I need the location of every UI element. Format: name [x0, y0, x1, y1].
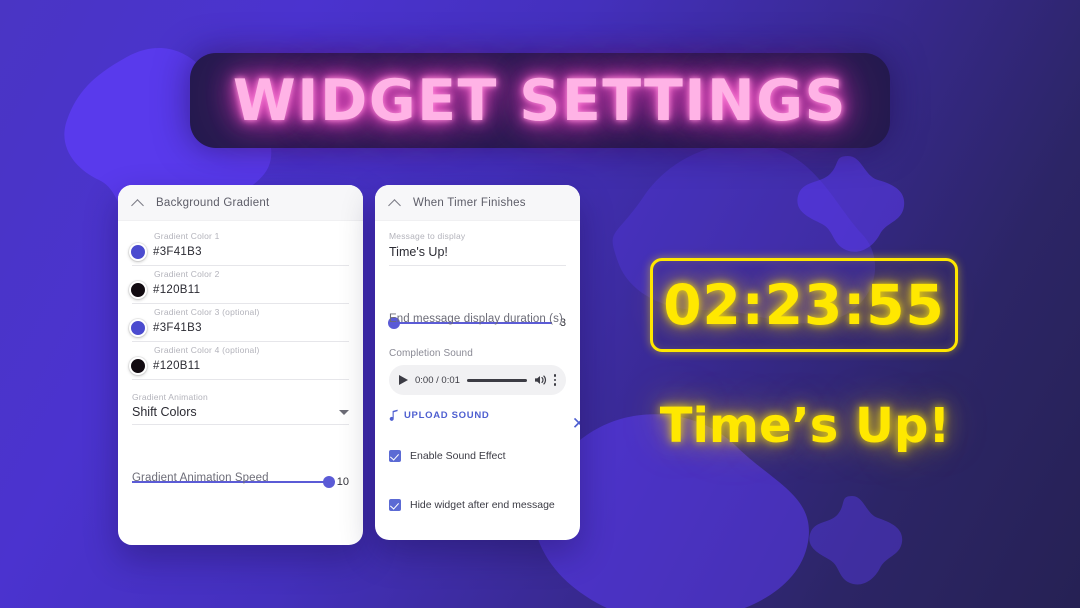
gradient-color-1-field: Gradient Color 1 #3F41B3 [132, 231, 349, 266]
chevron-up-icon[interactable] [389, 197, 401, 209]
gradient-animation-speed-field: Gradient Animation Speed 10 [132, 475, 349, 489]
background-blob-star-top-right [790, 150, 910, 260]
gradient-color-1-label: Gradient Color 1 [154, 231, 349, 241]
gradient-color-4-value[interactable]: #120B11 [153, 360, 200, 372]
gradient-animation-speed-slider[interactable]: Gradient Animation Speed [132, 475, 329, 489]
background-blob-star-bottom-right [800, 490, 910, 595]
audio-player[interactable]: 0:00 / 0:01 [389, 365, 566, 395]
play-icon[interactable] [399, 375, 408, 385]
gradient-color-3-label: Gradient Color 3 (optional) [154, 307, 349, 317]
message-to-display-label: Message to display [389, 231, 566, 241]
end-message-preview: Time’s Up! [655, 398, 955, 454]
gradient-color-4-swatch[interactable] [129, 357, 147, 375]
screen-root: WIDGET SETTINGS Background Gradient Grad… [0, 0, 1080, 608]
enable-sound-effect-label: Enable Sound Effect [410, 450, 506, 462]
chevron-up-icon[interactable] [132, 197, 144, 209]
timer-preview-value: 02:23:55 [663, 273, 945, 337]
slider-track [389, 322, 552, 324]
page-title-banner: WIDGET SETTINGS [190, 53, 890, 148]
message-to-display-field: Message to display Time's Up! [389, 231, 566, 266]
message-to-display-input[interactable]: Time's Up! [389, 241, 566, 266]
gradient-animation-select-field: Gradient Animation Shift Colors [132, 392, 349, 425]
slider-thumb[interactable] [323, 476, 335, 488]
gradient-color-2-row[interactable]: #120B11 [132, 281, 349, 304]
background-gradient-panel: Background Gradient Gradient Color 1 #3F… [118, 185, 363, 545]
slider-track [132, 481, 329, 483]
end-message-duration-field: End message display duration (s) 3 [389, 316, 566, 330]
gradient-color-3-row[interactable]: #3F41B3 [132, 319, 349, 342]
when-timer-finishes-panel: When Timer Finishes Message to display T… [375, 185, 580, 540]
page-title: WIDGET SETTINGS [233, 68, 847, 134]
slider-thumb[interactable] [388, 317, 400, 329]
gradient-color-1-row[interactable]: #3F41B3 [132, 243, 349, 266]
gradient-color-2-label: Gradient Color 2 [154, 269, 349, 279]
gradient-color-1-swatch[interactable] [129, 243, 147, 261]
enable-sound-effect-row[interactable]: Enable Sound Effect [389, 450, 566, 462]
completion-sound-label: Completion Sound [389, 348, 566, 359]
end-message-duration-value: 3 [560, 317, 566, 329]
timer-preview-box: 02:23:55 [650, 258, 958, 352]
gradient-color-3-value[interactable]: #3F41B3 [153, 322, 202, 334]
when-timer-finishes-body: Message to display Time's Up! End messag… [375, 221, 580, 511]
gradient-color-4-field: Gradient Color 4 (optional) #120B11 [132, 345, 349, 380]
close-icon[interactable]: ✕ [572, 415, 580, 432]
chevron-down-icon[interactable] [339, 410, 349, 415]
gradient-animation-label: Gradient Animation [132, 392, 349, 402]
hide-widget-label: Hide widget after end message [410, 499, 555, 511]
audio-time: 0:00 / 0:01 [415, 375, 460, 386]
kebab-menu-icon[interactable] [554, 374, 557, 386]
when-timer-finishes-title: When Timer Finishes [413, 197, 526, 209]
enable-sound-effect-checkbox[interactable] [389, 450, 401, 462]
background-gradient-body: Gradient Color 1 #3F41B3 Gradient Color … [118, 221, 363, 489]
hide-widget-checkbox[interactable] [389, 499, 401, 511]
gradient-color-4-label: Gradient Color 4 (optional) [154, 345, 349, 355]
gradient-animation-value: Shift Colors [132, 405, 197, 419]
music-note-icon [389, 409, 399, 421]
gradient-animation-speed-value: 10 [337, 476, 349, 488]
end-message-duration-slider[interactable]: End message display duration (s) [389, 316, 552, 330]
gradient-color-2-field: Gradient Color 2 #120B11 [132, 269, 349, 304]
gradient-color-4-row[interactable]: #120B11 [132, 357, 349, 380]
gradient-color-1-value[interactable]: #3F41B3 [153, 246, 202, 258]
hide-widget-row[interactable]: Hide widget after end message [389, 499, 566, 511]
when-timer-finishes-header[interactable]: When Timer Finishes [375, 185, 580, 221]
gradient-color-2-swatch[interactable] [129, 281, 147, 299]
volume-icon[interactable] [534, 374, 547, 386]
gradient-animation-select[interactable]: Shift Colors [132, 405, 349, 425]
upload-sound-button[interactable]: UPLOAD SOUND [389, 409, 566, 421]
gradient-color-2-value[interactable]: #120B11 [153, 284, 200, 296]
background-gradient-header[interactable]: Background Gradient [118, 185, 363, 221]
background-gradient-title: Background Gradient [156, 197, 269, 209]
upload-sound-label: UPLOAD SOUND [404, 410, 489, 421]
gradient-color-3-swatch[interactable] [129, 319, 147, 337]
gradient-color-3-field: Gradient Color 3 (optional) #3F41B3 [132, 307, 349, 342]
audio-progress-bar[interactable] [467, 379, 527, 382]
completion-sound-section: Completion Sound 0:00 / 0:01 [389, 348, 566, 395]
